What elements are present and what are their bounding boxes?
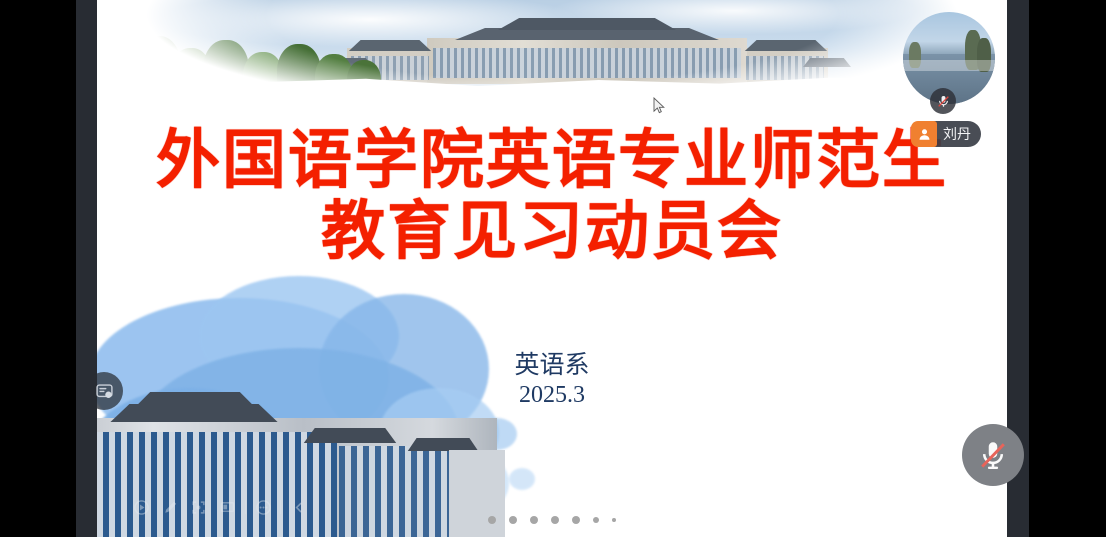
screen-share-viewport: 外国语学院英语专业师范生 教育见习动员会 英语系 2025.3 — [0, 0, 1106, 537]
participant-mic-muted-badge — [930, 88, 956, 114]
self-mute-button[interactable] — [962, 424, 1024, 486]
slide-dot — [593, 517, 599, 523]
notes-panel-button[interactable] — [85, 372, 123, 410]
slide-dot — [551, 516, 559, 524]
slide-date: 2025.3 — [97, 382, 1007, 409]
slide-dot — [488, 516, 496, 524]
person-icon — [911, 121, 937, 147]
slide-subtitle: 英语系 — [97, 345, 1007, 381]
slide-dot — [530, 516, 538, 524]
slide-title-line1: 外国语学院英语专业师范生 — [156, 125, 948, 196]
slide-dot — [612, 518, 616, 522]
slide-dot — [572, 516, 580, 524]
slide-indicator[interactable] — [97, 512, 1007, 528]
notes-panel-icon — [95, 382, 114, 401]
arrow-cursor — [653, 97, 666, 115]
slide-title: 外国语学院英语专业师范生 教育见习动员会 — [97, 128, 1007, 265]
banner-campus-photo — [97, 0, 1007, 108]
mic-muted-icon — [936, 94, 951, 109]
slide-dot — [509, 516, 517, 524]
shared-slide[interactable]: 外国语学院英语专业师范生 教育见习动员会 英语系 2025.3 — [97, 0, 1007, 537]
participant-name: 刘丹 — [937, 124, 971, 144]
slide-title-line2: 教育见习动员会 — [97, 199, 1007, 264]
mic-muted-icon — [976, 438, 1010, 472]
participant-name-pill[interactable]: 刘丹 — [911, 121, 981, 147]
letterbox-bar-left — [76, 0, 97, 537]
